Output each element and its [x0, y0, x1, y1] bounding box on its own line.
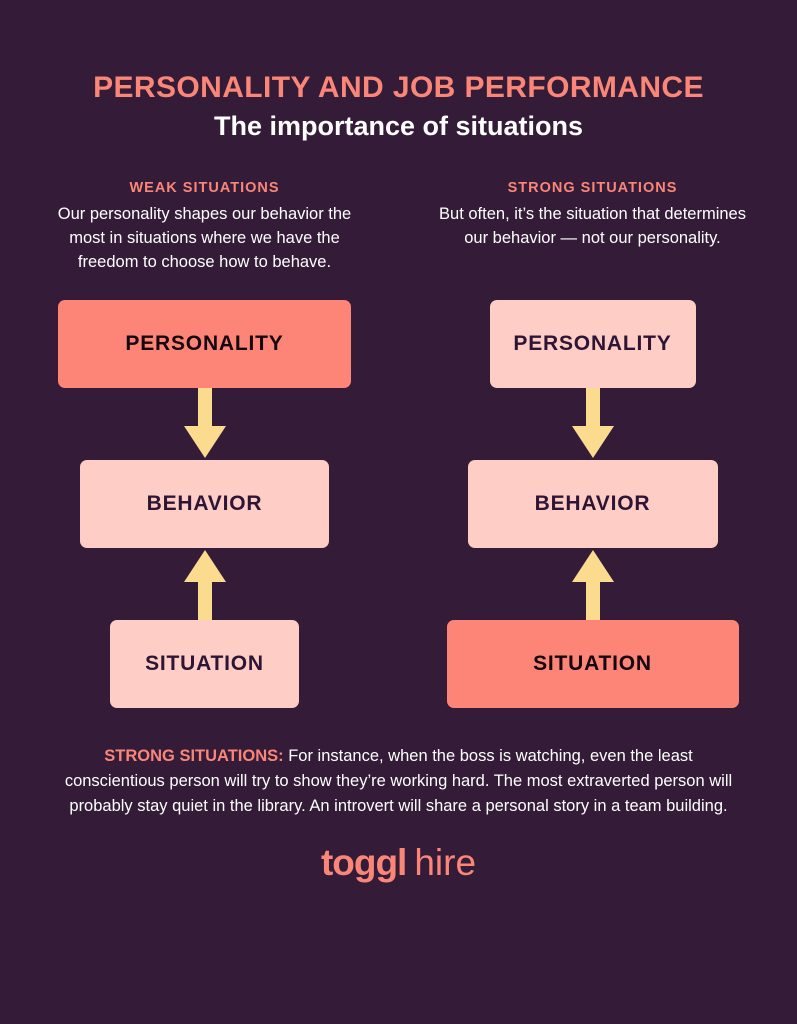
column-heading-strong: STRONG SITUATIONS — [436, 180, 750, 196]
arrow-down-icon — [566, 388, 620, 460]
flow-diagram: PERSONALITY BEHAVIOR SITUATION PERSONALI… — [0, 300, 797, 708]
node-label: SITUATION — [145, 652, 264, 676]
toggl-hire-logo: togglhire — [0, 844, 797, 881]
column-body-strong: But often, it’s the situation that deter… — [436, 202, 750, 251]
flow-strong-situations: PERSONALITY BEHAVIOR SITUATION — [428, 300, 758, 708]
page-subtitle: The importance of situations — [0, 111, 797, 142]
logo-hire-wordmark: hire — [414, 842, 476, 883]
footer-note: STRONG SITUATIONS: For instance, when th… — [54, 744, 744, 819]
node-behavior-weak: BEHAVIOR — [80, 460, 329, 548]
footer-note-lead: STRONG SITUATIONS: — [104, 747, 283, 765]
arrow-up-icon — [178, 548, 232, 620]
node-situation-weak: SITUATION — [110, 620, 299, 708]
node-behavior-strong: BEHAVIOR — [468, 460, 718, 548]
logo-toggl-wordmark: toggl — [321, 842, 406, 883]
node-personality-strong: PERSONALITY — [490, 300, 696, 388]
header: PERSONALITY AND JOB PERFORMANCE The impo… — [0, 0, 797, 142]
node-situation-strong: SITUATION — [447, 620, 739, 708]
intro-column-weak: WEAK SITUATIONS Our personality shapes o… — [40, 180, 370, 275]
arrow-down-icon — [178, 388, 232, 460]
column-body-weak: Our personality shapes our behavior the … — [48, 202, 362, 275]
page-title: PERSONALITY AND JOB PERFORMANCE — [0, 72, 797, 104]
column-heading-weak: WEAK SITUATIONS — [48, 180, 362, 196]
node-label: PERSONALITY — [125, 332, 283, 356]
intro-column-strong: STRONG SITUATIONS But often, it’s the si… — [428, 180, 758, 275]
flow-weak-situations: PERSONALITY BEHAVIOR SITUATION — [40, 300, 370, 708]
node-label: PERSONALITY — [513, 332, 671, 356]
node-label: BEHAVIOR — [535, 492, 651, 516]
node-label: BEHAVIOR — [147, 492, 263, 516]
arrow-up-icon — [566, 548, 620, 620]
node-label: SITUATION — [533, 652, 652, 676]
node-personality-weak: PERSONALITY — [58, 300, 351, 388]
intro-columns: WEAK SITUATIONS Our personality shapes o… — [0, 180, 797, 275]
